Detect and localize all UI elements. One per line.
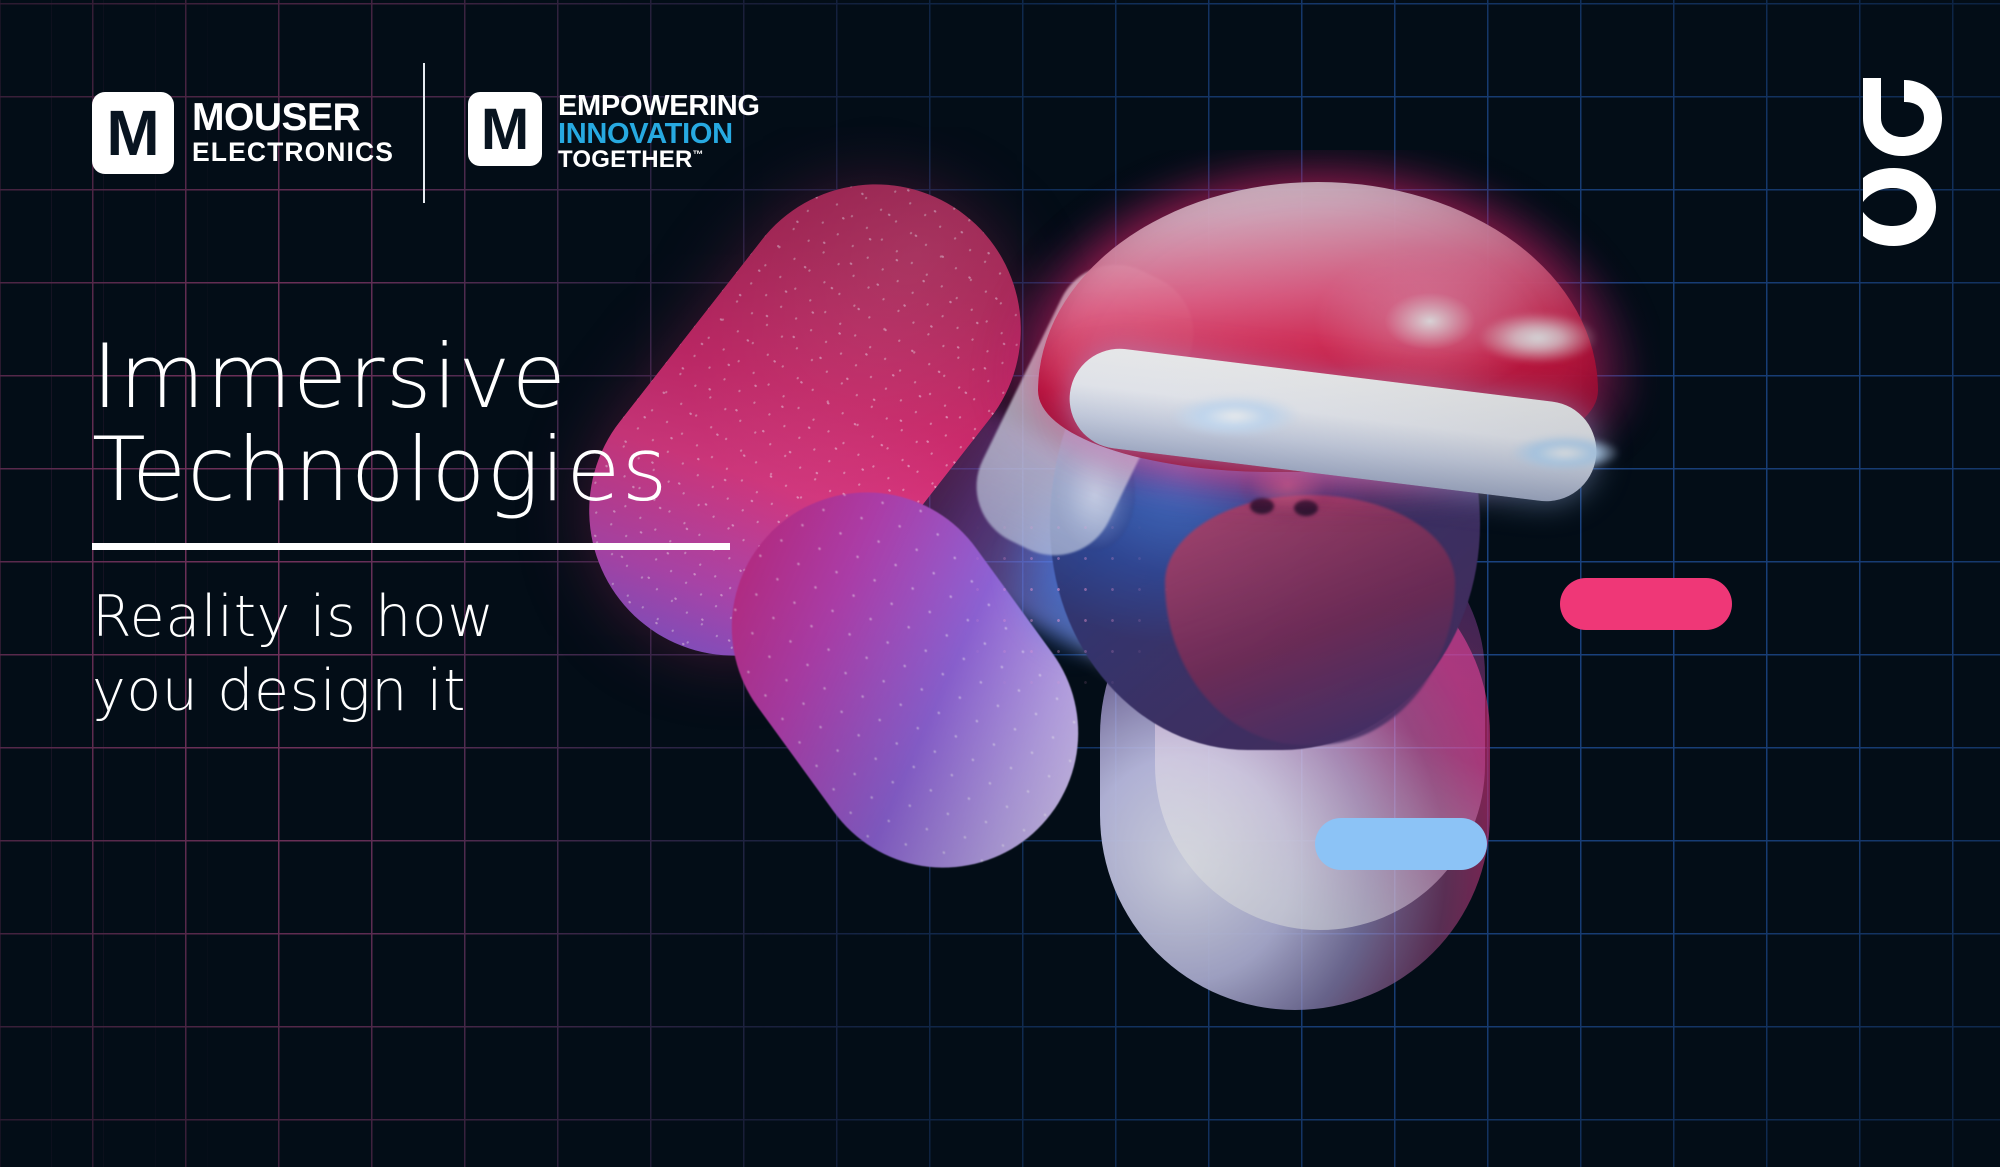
subtitle-line2: you design it — [92, 654, 812, 728]
page-title-line2: Technologies — [92, 423, 812, 516]
trademark-symbol: ™ — [693, 149, 704, 161]
mouser-logo[interactable]: M MOUSER ELECTRONICS — [92, 92, 394, 174]
subtitle-line1: Reality is how — [92, 580, 812, 654]
mouser-name: MOUSER — [192, 99, 394, 137]
hero-banner: M MOUSER ELECTRONICS M EMPOWERING INNOVA… — [0, 0, 2000, 1167]
visor-lamp-right — [1510, 435, 1620, 471]
pink-accent-pill — [1560, 578, 1732, 630]
vr-headset-portrait — [920, 150, 1660, 770]
empowering-innovation-logo[interactable]: M EMPOWERING INNOVATION TOGETHER™ — [468, 92, 760, 172]
eit-line-together: TOGETHER™ — [558, 148, 760, 172]
title-underline-rule — [92, 543, 730, 550]
nostril-right — [1294, 500, 1318, 516]
mouser-subname: ELECTRONICS — [192, 139, 394, 167]
eit-wordmark: EMPOWERING INNOVATION TOGETHER™ — [558, 92, 760, 172]
mouser-wordmark: MOUSER ELECTRONICS — [192, 99, 394, 167]
blue-accent-pill — [1315, 818, 1487, 870]
eit-together-text: TOGETHER — [558, 146, 693, 173]
particle-dust — [920, 450, 1210, 750]
svg-text:M: M — [481, 102, 529, 156]
eit-line-innovation: INNOVATION — [558, 120, 760, 148]
mouser-m-badge: M — [92, 92, 174, 174]
eit-line-empowering: EMPOWERING — [558, 92, 760, 120]
svg-text:M: M — [106, 103, 159, 163]
page-title-line1: Immersive — [92, 330, 812, 423]
eit-m-badge: M — [468, 92, 542, 166]
logo-divider — [423, 63, 425, 203]
ac-monogram-icon[interactable] — [1852, 72, 1952, 252]
visor-lamp-left — [1170, 395, 1300, 437]
nostril-left — [1250, 498, 1274, 514]
hero-copy: Immersive Technologies Reality is how yo… — [92, 330, 812, 728]
visor-highlight — [1478, 312, 1598, 364]
